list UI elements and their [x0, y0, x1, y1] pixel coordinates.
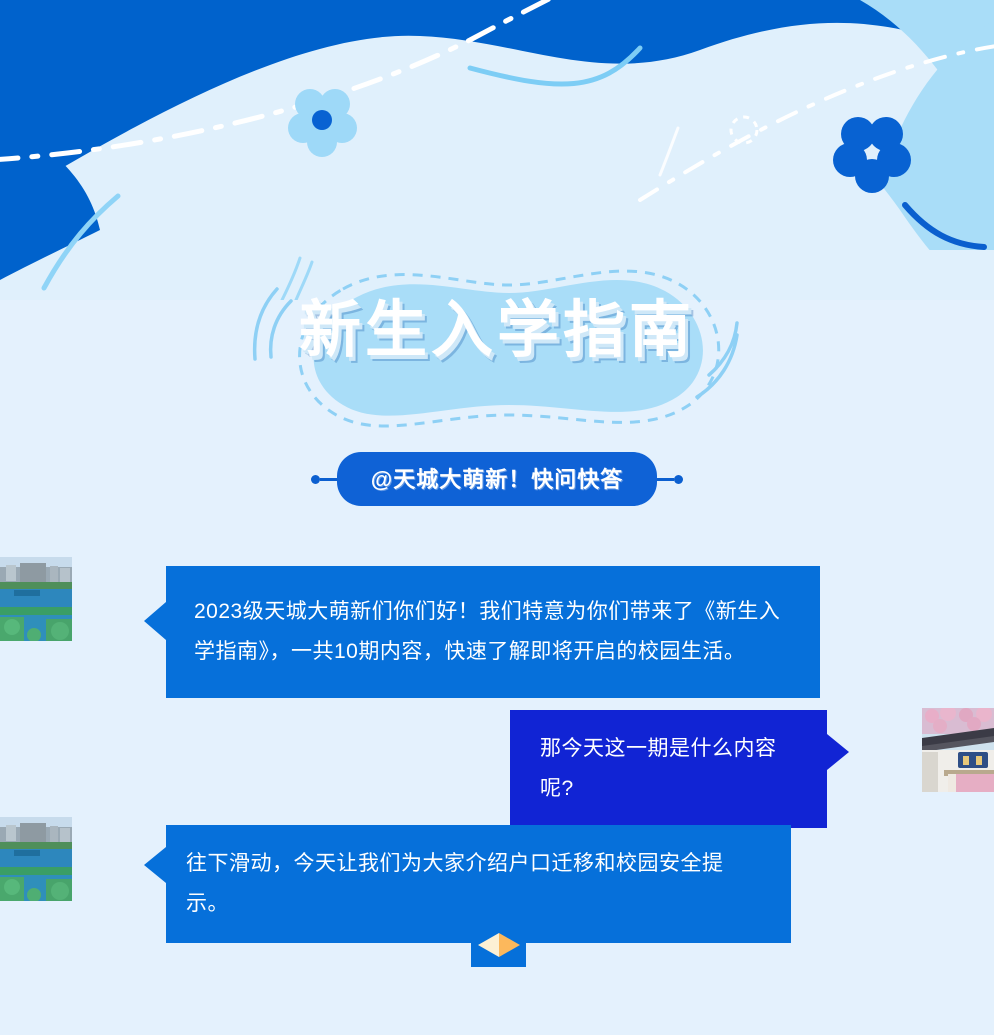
avatar [0, 817, 72, 901]
page-title: 新生入学指南 [0, 300, 994, 362]
avatar [0, 557, 72, 641]
badge-bar-icon [657, 478, 674, 481]
badge-dot-icon [311, 475, 320, 484]
chat-message-text: 2023级天城大萌新们你们好！我们特意为你们带来了《新生入学指南》，一共10期内… [194, 600, 780, 663]
avatar [922, 708, 994, 792]
subtitle-badge: @天城大萌新！快问快答 [337, 452, 657, 506]
bubble-tail [144, 847, 166, 883]
hero-banner [0, 0, 994, 300]
scroll-down-diamond-icon [477, 932, 521, 958]
badge-left-decoration [311, 475, 337, 484]
scroll-down-button[interactable] [471, 923, 526, 967]
chat-bubble: 那今天这一期是什么内容呢? [510, 710, 827, 828]
subtitle-badge-row: @天城大萌新！快问快答 [0, 452, 994, 506]
bubble-tail [144, 602, 166, 640]
chat-bubble: 2023级天城大萌新们你们好！我们特意为你们带来了《新生入学指南》，一共10期内… [166, 566, 820, 698]
chat-message-text: 往下滑动，今天让我们为大家介绍户口迁移和校园安全提示。 [186, 852, 724, 915]
badge-bar-icon [320, 478, 337, 481]
chat-message-text: 那今天这一期是什么内容呢? [540, 737, 777, 800]
badge-right-decoration [657, 475, 683, 484]
bubble-tail [827, 734, 849, 770]
badge-dot-icon [674, 475, 683, 484]
title-area [0, 265, 994, 465]
